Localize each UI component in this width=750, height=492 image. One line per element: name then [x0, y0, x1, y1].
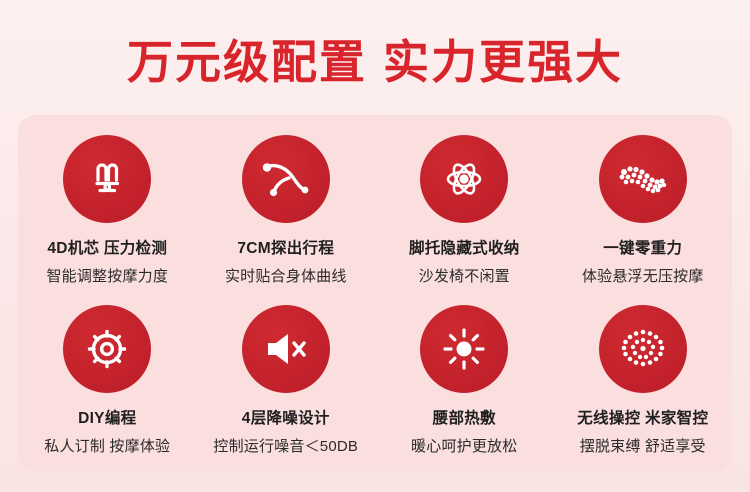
heat-sun-icon	[440, 325, 488, 373]
feature-title: 4D机芯 压力检测	[47, 236, 167, 258]
wireless-control-icon	[617, 325, 669, 373]
feature-title: 腰部热敷	[433, 406, 496, 428]
feature-item: 7CM探出行程 实时贴合身体曲线	[197, 129, 376, 299]
feature-title: 脚托隐藏式收纳	[409, 236, 520, 258]
feature-item: 脚托隐藏式收纳 沙发椅不闲置	[375, 129, 554, 299]
zero-gravity-icon	[615, 156, 671, 202]
feature-subtitle: 体验悬浮无压按摩	[582, 265, 704, 286]
feature-item: 4D机芯 压力检测 智能调整按摩力度	[18, 129, 197, 299]
feature-subtitle: 沙发椅不闲置	[419, 265, 510, 286]
mute-speaker-icon	[260, 328, 312, 370]
feature-subtitle: 实时贴合身体曲线	[225, 265, 347, 286]
feature-title: 4层降噪设计	[242, 406, 330, 428]
stroke-curve-icon	[260, 156, 312, 202]
promo-page: 万元级配置实力更强大	[0, 0, 750, 492]
feature-icon-circle	[599, 305, 687, 393]
feature-icon-circle	[242, 305, 330, 393]
features-card: 4D机芯 压力检测 智能调整按摩力度 7C	[18, 115, 732, 471]
gear-diy-icon	[83, 325, 131, 373]
feature-icon-circle	[63, 135, 151, 223]
feature-item: 一键零重力 体验悬浮无压按摩	[554, 129, 733, 299]
feature-title: 一键零重力	[603, 236, 682, 258]
feature-title: 7CM探出行程	[237, 236, 334, 258]
feature-item: 无线操控 米家智控 摆脱束缚 舒适享受	[554, 299, 733, 469]
feature-subtitle: 暖心呵护更放松	[411, 435, 517, 456]
feature-item: DIY编程 私人订制 按摩体验	[18, 299, 197, 469]
feature-icon-circle	[242, 135, 330, 223]
title-part-1: 万元级配置	[127, 36, 367, 88]
feature-icon-circle	[599, 135, 687, 223]
massage-core-icon	[84, 156, 130, 202]
feature-title: 无线操控 米家智控	[577, 406, 708, 428]
footrest-atom-icon	[439, 154, 489, 204]
feature-title: DIY编程	[78, 406, 136, 428]
feature-item: 腰部热敷 暖心呵护更放松	[375, 299, 554, 469]
feature-subtitle: 智能调整按摩力度	[46, 265, 168, 286]
feature-item: 4层降噪设计 控制运行噪音＜50DB	[197, 299, 376, 469]
feature-icon-circle	[420, 305, 508, 393]
feature-icon-circle	[420, 135, 508, 223]
feature-icon-circle	[63, 305, 151, 393]
page-title: 万元级配置实力更强大	[0, 26, 750, 92]
feature-subtitle: 私人订制 按摩体验	[44, 435, 170, 456]
feature-subtitle: 摆脱束缚 舒适享受	[580, 435, 706, 456]
page-title-text: 万元级配置实力更强大	[127, 26, 623, 92]
feature-subtitle: 控制运行噪音＜50DB	[213, 435, 358, 456]
title-part-2: 实力更强大	[383, 36, 623, 88]
features-grid: 4D机芯 压力检测 智能调整按摩力度 7C	[18, 129, 732, 469]
